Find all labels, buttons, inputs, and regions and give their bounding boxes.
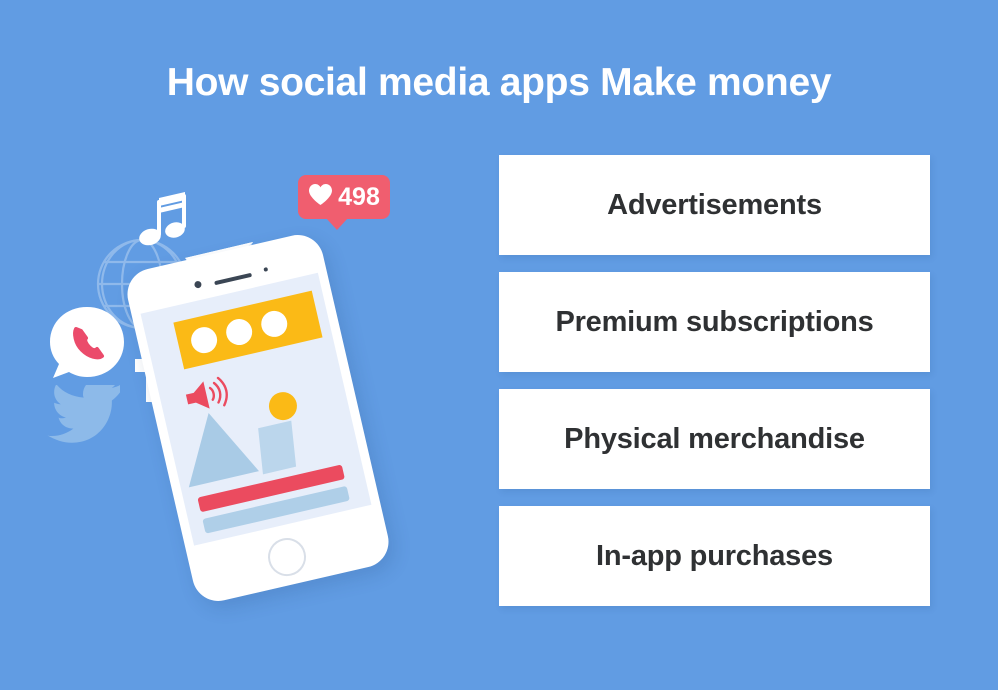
image-placeholder-mountain-small xyxy=(258,421,296,475)
card-label: Premium subscriptions xyxy=(555,306,873,339)
phone-home-button[interactable] xyxy=(264,534,310,580)
phone-speaker xyxy=(214,273,252,285)
twitter-bird-icon xyxy=(46,385,130,449)
phone-screen xyxy=(141,273,372,546)
like-count: 498 xyxy=(338,185,380,210)
story-dot xyxy=(259,308,290,339)
monetization-card-advertisements[interactable]: Advertisements xyxy=(499,155,930,255)
like-badge: 498 xyxy=(298,175,390,231)
image-placeholder-mountain xyxy=(174,405,259,487)
phone-call-bubble-icon xyxy=(48,305,126,383)
monetization-card-physical-merchandise[interactable]: Physical merchandise xyxy=(499,389,930,489)
smartphone-illustration xyxy=(122,230,393,606)
monetization-card-premium-subscriptions[interactable]: Premium subscriptions xyxy=(499,272,930,372)
card-label: Advertisements xyxy=(607,189,822,222)
monetization-card-in-app-purchases[interactable]: In-app purchases xyxy=(499,506,930,606)
stories-bar xyxy=(173,291,322,370)
phone-camera-icon xyxy=(194,280,202,288)
social-media-illustration: 498 xyxy=(0,0,470,690)
heart-icon xyxy=(308,183,333,211)
phone-body xyxy=(122,230,393,606)
card-label: In-app purchases xyxy=(596,540,833,573)
image-placeholder-sun xyxy=(266,389,300,423)
card-label: Physical merchandise xyxy=(564,423,865,456)
infographic-canvas: How social media apps Make money xyxy=(0,0,998,690)
monetization-card-list: Advertisements Premium subscriptions Phy… xyxy=(499,155,930,623)
phone-sensor xyxy=(263,267,268,272)
story-dot xyxy=(224,316,255,347)
story-dot xyxy=(189,325,220,356)
